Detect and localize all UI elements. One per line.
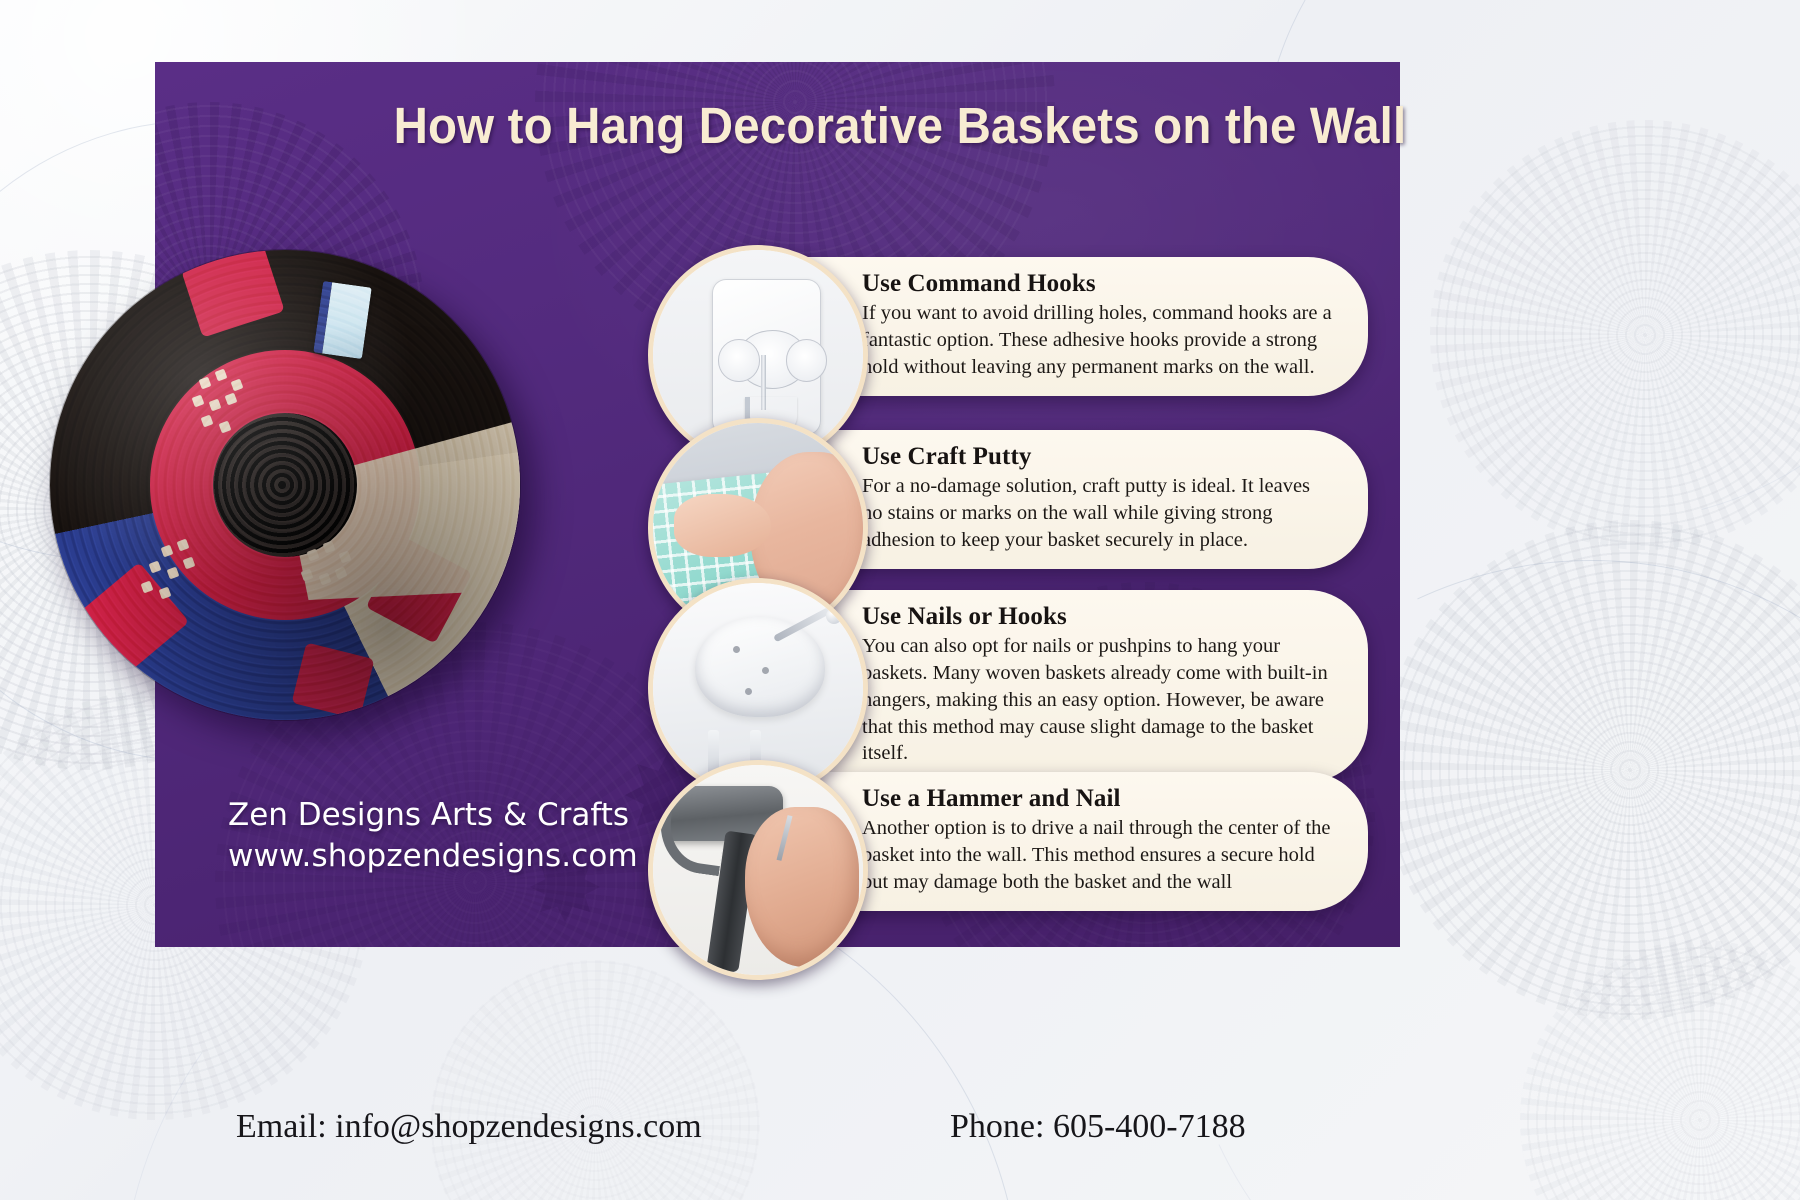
step-body-4: Another option is to drive a nail throug… <box>862 815 1334 896</box>
step-card-4: Use a Hammer and Nail Another option is … <box>788 772 1368 911</box>
hero-basket-image <box>50 250 520 720</box>
step-heading-1: Use Command Hooks <box>862 270 1334 298</box>
basket-red-patch <box>292 642 375 719</box>
step-heading-4: Use a Hammer and Nail <box>862 785 1334 813</box>
basket-motif-speck <box>149 561 162 574</box>
brand-name: Zen Designs Arts & Crafts <box>228 795 638 836</box>
step-body-3: You can also opt for nails or pushpins t… <box>862 633 1334 767</box>
step-card-3: Use Nails or Hooks You can also opt for … <box>788 590 1368 782</box>
brand-block: Zen Designs Arts & Crafts www.shopzendes… <box>228 795 638 877</box>
basket-motif-speck <box>167 567 180 580</box>
step-body-2: For a no-damage solution, craft putty is… <box>862 473 1334 554</box>
step-heading-2: Use Craft Putty <box>862 443 1334 471</box>
basket-red-patch <box>181 250 284 338</box>
step-card-2: Use Craft Putty For a no-damage solution… <box>788 430 1368 569</box>
basket-black-spiral-center <box>213 413 357 557</box>
page-title: How to Hang Decorative Baskets on the Wa… <box>63 96 1737 155</box>
product-hang-tag <box>313 281 372 359</box>
step-body-1: If you want to avoid drilling holes, com… <box>862 300 1334 381</box>
footer-email[interactable]: Email: info@shopzendesigns.com <box>236 1108 702 1146</box>
footer-phone[interactable]: Phone: 605-400-7188 <box>950 1108 1246 1146</box>
basket-red-patch <box>75 562 189 676</box>
step-heading-3: Use Nails or Hooks <box>862 603 1334 631</box>
hammer-nail-icon <box>648 760 868 980</box>
step-card-1: Use Command Hooks If you want to avoid d… <box>788 257 1368 396</box>
brand-website[interactable]: www.shopzendesigns.com <box>228 836 638 877</box>
basket-photo <box>50 250 520 720</box>
